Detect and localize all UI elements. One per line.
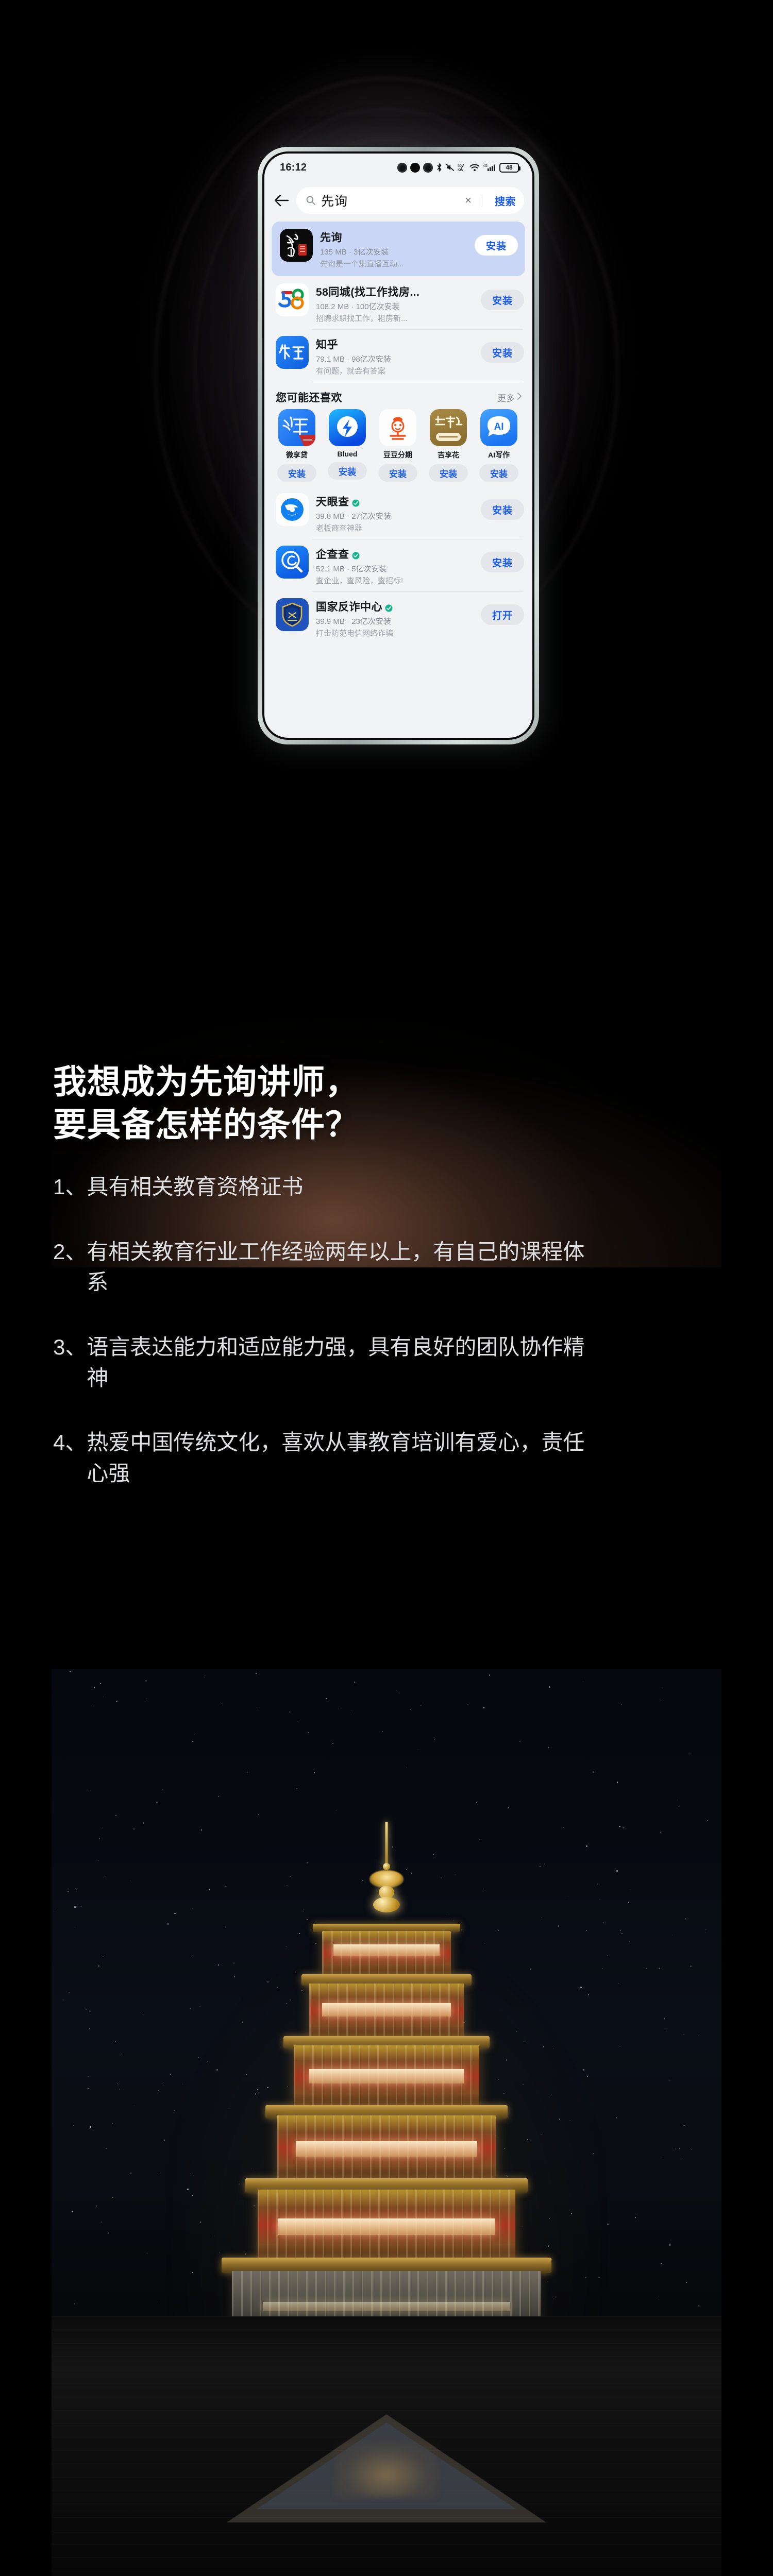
app-size-installs: 79.1 MB · 98亿次安装 xyxy=(316,353,474,364)
podium-light-strip xyxy=(263,2302,510,2311)
page-title: 我想成为先询讲师， 要具备怎样的条件？ xyxy=(53,1060,671,1146)
install-button[interactable]: 安装 xyxy=(481,290,524,310)
list-item-text: 有相关教育行业工作经验两年以上，有自己的课程体系 xyxy=(87,1236,602,1298)
install-button[interactable]: 安装 xyxy=(277,464,316,482)
recommend-label: 豆豆分期 xyxy=(383,450,412,460)
table-row[interactable]: 天眼查 39.8 MB · 27亿次安装 老板商查神器 安装 xyxy=(264,487,532,539)
verified-badge-icon xyxy=(385,603,393,611)
install-button[interactable]: 安装 xyxy=(481,552,524,572)
app-name-text: 天眼查 xyxy=(316,494,349,509)
recommend-grid: 微享贷 安装 xyxy=(264,409,532,485)
recommend-label: 微享贷 xyxy=(286,450,308,460)
list-item-text: 热爱中国传统文化，喜欢从事教育培训有爱心，责任心强 xyxy=(87,1427,602,1488)
tianyancha-app-icon xyxy=(276,493,309,526)
app-meta: 国家反诈中心 39.9 MB · 23亿次安装 打击防范电信网络诈骗 xyxy=(316,598,474,638)
battery-level: 48 xyxy=(506,164,512,171)
table-row[interactable]: 企查查 52.1 MB · 5亿次安装 查企业，查风险，查招标! 安装 xyxy=(264,539,532,592)
app-meta: 知乎 79.1 MB · 98亿次安装 有问题，就会有答案 xyxy=(316,336,474,376)
app-name-text: 国家反诈中心 xyxy=(316,599,382,614)
back-arrow-icon[interactable] xyxy=(272,191,291,210)
xianxun-app-icon xyxy=(280,229,313,262)
list-item-text: 具有相关教育资格证书 xyxy=(87,1172,303,1202)
search-divider xyxy=(482,194,482,207)
pagoda-structure xyxy=(206,1822,567,2399)
camera-dot-icon xyxy=(423,163,433,173)
search-input[interactable]: 先询 × 搜索 xyxy=(296,187,524,214)
list-item[interactable]: 豆豆分期 安装 xyxy=(377,409,419,482)
pagoda-spire xyxy=(366,1822,407,1920)
app-size-installs: 39.9 MB · 23亿次安装 xyxy=(316,616,474,626)
pagoda-night-photo xyxy=(52,1669,721,2576)
app-description: 招聘求职找工作，租房新... xyxy=(316,313,474,324)
blued-app-icon xyxy=(329,409,366,446)
recommend-label: 吉享花 xyxy=(438,450,459,460)
network-speed-icon: 50K/s xyxy=(458,163,466,172)
table-row[interactable]: 国家反诈中心 39.9 MB · 23亿次安装 打击防范电信网络诈骗 打开 xyxy=(264,592,532,645)
plaza-light-reflection xyxy=(335,2441,438,2498)
qichacha-app-icon xyxy=(276,546,309,579)
requirements-list: 1、 具有相关教育资格证书 2、 有相关教育行业工作经验两年以上，有自己的课程体… xyxy=(53,1172,713,1522)
status-time: 16:12 xyxy=(280,162,307,174)
svg-text:4G: 4G xyxy=(483,164,488,168)
app-description: 有问题，就会有答案 xyxy=(316,365,474,376)
app-size-installs: 39.8 MB · 27亿次安装 xyxy=(316,511,474,521)
table-row[interactable]: 58同城(找工作找房... 108.2 MB · 100亿次安装 招聘求职找工作… xyxy=(264,277,532,330)
list-item-text: 语言表达能力和适应能力强，具有良好的团队协作精神 xyxy=(87,1332,602,1393)
install-button[interactable]: 安装 xyxy=(429,464,468,482)
recommend-more-link[interactable]: 更多 xyxy=(497,391,522,404)
pagoda-window-strip xyxy=(322,2003,451,2016)
status-bar: 16:12 50K/s xyxy=(264,154,532,181)
requirements-section: 我想成为先询讲师， 要具备怎样的条件？ 1、 具有相关教育资格证书 2、 有相关… xyxy=(0,927,773,1669)
app-meta: 先询 135 MB · 3亿次安装 先询是一个集直播互动... xyxy=(320,229,467,269)
install-button[interactable]: 安装 xyxy=(475,235,518,256)
fanzha-app-icon xyxy=(276,598,309,631)
recommend-header: 您可能还喜欢 更多 xyxy=(264,382,532,409)
app-description: 查企业，查风险，查招标! xyxy=(316,575,474,586)
app-name: 天眼查 xyxy=(316,494,474,509)
install-button[interactable]: 安装 xyxy=(481,499,524,520)
recommend-more-label: 更多 xyxy=(497,391,515,404)
recommend-label: Blued xyxy=(338,450,358,458)
heading-line-2: 要具备怎样的条件？ xyxy=(53,1106,359,1143)
app-name: 国家反诈中心 xyxy=(316,599,474,614)
zhihu-app-icon xyxy=(276,336,309,369)
doudoufenqi-app-icon xyxy=(379,409,416,446)
search-query-text[interactable]: 先询 xyxy=(321,191,455,210)
list-item[interactable]: AI AI写作 安装 xyxy=(478,409,520,482)
clear-icon[interactable]: × xyxy=(460,194,477,207)
pagoda-window-strip xyxy=(296,2141,477,2157)
app-name: 知乎 xyxy=(316,336,474,352)
list-item: 3、 语言表达能力和适应能力强，具有良好的团队协作精神 xyxy=(53,1332,713,1393)
pagoda-photo-section xyxy=(0,1669,773,2576)
svg-text:50: 50 xyxy=(458,164,462,168)
list-item[interactable]: Blued 安装 xyxy=(326,409,368,482)
app-name-text: 企查查 xyxy=(316,546,349,562)
app-size-installs: 52.1 MB · 5亿次安装 xyxy=(316,563,474,574)
list-item[interactable]: 吉享花 安装 xyxy=(427,409,469,482)
app-size-installs: 135 MB · 3亿次安装 xyxy=(320,246,467,257)
table-row[interactable]: 先询 135 MB · 3亿次安装 先询是一个集直播互动... 安装 xyxy=(272,222,525,276)
list-item-number: 4、 xyxy=(53,1427,87,1488)
recommend-label: AI写作 xyxy=(488,450,510,460)
app-meta: 企查查 52.1 MB · 5亿次安装 查企业，查风险，查招标! xyxy=(316,546,474,586)
app-name: 先询 xyxy=(320,229,467,245)
install-button[interactable]: 安装 xyxy=(328,462,367,480)
verified-badge-icon xyxy=(352,550,360,558)
install-button[interactable]: 安装 xyxy=(479,464,518,482)
pagoda-window-strip xyxy=(278,2218,495,2235)
camera-dot-icon xyxy=(410,163,420,173)
signal-icon: 4G xyxy=(483,163,495,172)
chevron-right-icon xyxy=(517,392,522,403)
app-name-text: 先询 xyxy=(320,229,342,245)
plaza-ground xyxy=(52,2316,721,2576)
search-button[interactable]: 搜索 xyxy=(488,193,516,208)
list-item-number: 2、 xyxy=(53,1236,87,1298)
open-button[interactable]: 打开 xyxy=(481,604,524,625)
search-bar-row: 先询 × 搜索 xyxy=(264,181,532,219)
list-item: 4、 热爱中国传统文化，喜欢从事教育培训有爱心，责任心强 xyxy=(53,1427,713,1488)
jixianghua-app-icon xyxy=(430,409,467,446)
phone-hero-section: 16:12 50K/s xyxy=(0,0,773,927)
svg-text:AI: AI xyxy=(494,421,504,432)
install-button[interactable]: 安装 xyxy=(481,342,524,363)
wifi-icon xyxy=(469,164,480,172)
list-item: 2、 有相关教育行业工作经验两年以上，有自己的课程体系 xyxy=(53,1236,713,1298)
bluetooth-icon xyxy=(436,163,443,172)
table-row[interactable]: 知乎 79.1 MB · 98亿次安装 有问题，就会有答案 安装 xyxy=(264,330,532,382)
app-description: 先询是一个集直播互动... xyxy=(320,258,467,269)
pagoda-window-strip xyxy=(333,1944,440,1956)
58tongcheng-app-icon xyxy=(276,283,309,316)
list-item[interactable]: 微享贷 安装 xyxy=(276,409,318,482)
phone-screen: 16:12 50K/s xyxy=(264,154,532,738)
app-description: 打击防范电信网络诈骗 xyxy=(316,628,474,638)
app-meta: 天眼查 39.8 MB · 27亿次安装 老板商查神器 xyxy=(316,493,474,533)
phone-mockup: 16:12 50K/s xyxy=(258,147,539,744)
app-name-text: 58同城(找工作找房... xyxy=(316,284,419,299)
list-item: 1、 具有相关教育资格证书 xyxy=(53,1172,713,1202)
recommend-title: 您可能还喜欢 xyxy=(276,389,497,405)
search-icon xyxy=(306,195,316,206)
app-name-text: 知乎 xyxy=(316,336,338,352)
camera-dot-icon xyxy=(397,163,407,173)
weixiangdai-app-icon xyxy=(278,409,315,446)
app-size-installs: 108.2 MB · 100亿次安装 xyxy=(316,301,474,312)
phone-bezel: 16:12 50K/s xyxy=(262,151,534,740)
status-icons: 50K/s 4G 48 xyxy=(397,163,519,173)
verified-badge-icon xyxy=(352,498,360,505)
pagoda-window-strip xyxy=(309,2069,464,2083)
aixiezuo-app-icon: AI xyxy=(480,409,517,446)
app-meta: 58同城(找工作找房... 108.2 MB · 100亿次安装 招聘求职找工作… xyxy=(316,283,474,324)
heading-line-1: 我想成为先询讲师， xyxy=(53,1063,359,1100)
list-item-number: 1、 xyxy=(53,1172,87,1202)
search-results-list: 先询 135 MB · 3亿次安装 先询是一个集直播互动... 安装 xyxy=(264,219,532,738)
battery-icon: 48 xyxy=(499,163,519,173)
app-name: 58同城(找工作找房... xyxy=(316,284,474,299)
app-description: 老板商查神器 xyxy=(316,522,474,533)
list-item-number: 3、 xyxy=(53,1332,87,1393)
app-name: 企查查 xyxy=(316,546,474,562)
mute-icon xyxy=(446,163,455,172)
install-button[interactable]: 安装 xyxy=(378,464,417,482)
